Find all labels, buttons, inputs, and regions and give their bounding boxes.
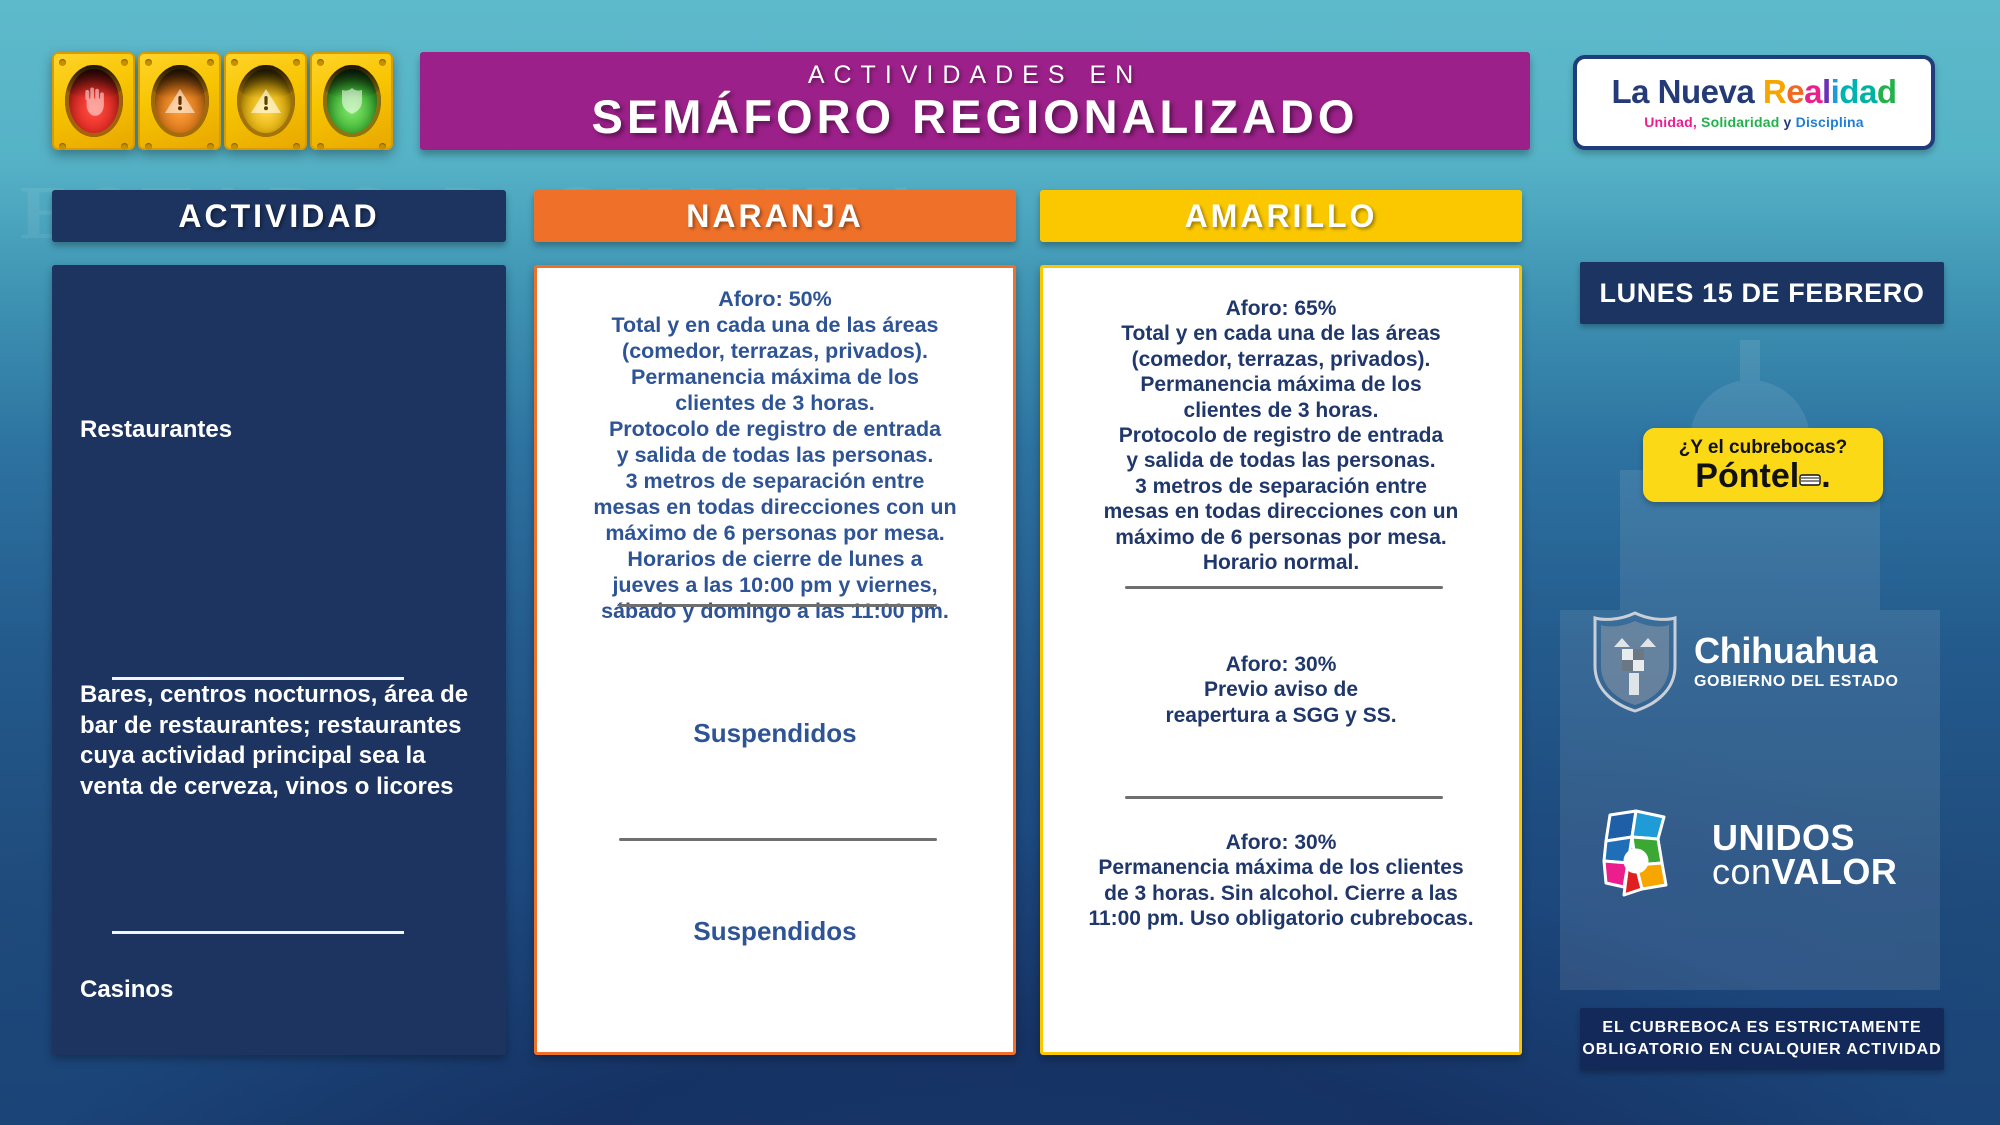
text-line: Permanencia máxima de los clientes <box>1059 855 1503 880</box>
naranja-bares-label: Suspendidos <box>553 718 997 749</box>
activity-row-casinos: Casinos <box>80 975 478 1006</box>
brand-letter: a <box>1804 73 1822 110</box>
gov-logo-subtitle: GOBIERNO DEL ESTADO <box>1694 673 1899 691</box>
uv-line-unidos: UNIDOS <box>1712 821 1897 855</box>
brand-letter: i <box>1831 73 1840 110</box>
date-badge: LUNES 15 DE FEBRERO <box>1580 262 1944 324</box>
brand-letter: l <box>1822 73 1831 110</box>
gov-logo-name: Chihuahua <box>1694 633 1899 669</box>
text-line: 3 metros de separación entre <box>1059 474 1503 499</box>
text-line: Previo aviso de <box>1059 677 1503 702</box>
hand-icon <box>65 65 123 137</box>
text-line: Aforo: 50% <box>553 286 997 312</box>
text-line: Horario normal. <box>1059 550 1503 575</box>
text-line: clientes de 3 horas. <box>1059 398 1503 423</box>
page-title: SEMÁFORO REGIONALIZADO <box>592 93 1359 140</box>
slogan-char: ó <box>1718 457 1739 495</box>
text-line: máximo de 6 personas por mesa. <box>553 520 997 546</box>
slogan-char: . <box>1821 457 1830 495</box>
brand-la-nueva: La Nueva <box>1611 73 1762 110</box>
title-banner: ACTIVIDADES EN SEMÁFORO REGIONALIZADO <box>420 52 1530 150</box>
slogan-char: l <box>1790 457 1799 495</box>
text-line: y salida de todas las personas. <box>553 442 997 468</box>
naranja-cell-restaurantes: Aforo: 50%Total y en cada una de las áre… <box>553 286 997 624</box>
face-mask-icon <box>1799 461 1821 479</box>
chihuahua-map-icon <box>1592 803 1696 907</box>
text-line: Total y en cada una de las áreas <box>553 312 997 338</box>
column-header-actividad: ACTIVIDAD <box>52 190 506 242</box>
amarillo-column-card: Aforo: 65%Total y en cada una de las áre… <box>1040 265 1522 1055</box>
text-line: clientes de 3 horas. <box>553 390 997 416</box>
text-line: Horarios de cierre de lunes a <box>553 546 997 572</box>
text-line: y salida de todas las personas. <box>1059 448 1503 473</box>
column-header-actividad-label: ACTIVIDAD <box>178 198 379 235</box>
naranja-column-card: Aforo: 50%Total y en cada una de las áre… <box>534 265 1016 1055</box>
text-line: Protocolo de registro de entrada <box>553 416 997 442</box>
brand-letter: e <box>1786 73 1804 110</box>
mask-campaign-badge: ¿Y el cubrebocas? Póntel. <box>1643 428 1883 502</box>
brand-sub-unidad: Unidad, <box>1644 114 1697 130</box>
mask-slogan-text: Póntel. <box>1695 459 1830 493</box>
text-line: jueves a las 10:00 pm y viernes, <box>553 572 997 598</box>
brand-subtitle: Unidad, Solidaridad y Disciplina <box>1644 114 1864 130</box>
brand-realidad: Realidad <box>1763 73 1897 110</box>
text-line: (comedor, terrazas, privados). <box>553 338 997 364</box>
brand-letter: d <box>1839 73 1859 110</box>
column-header-naranja: NARANJA <box>534 190 1016 242</box>
mask-mandatory-footer-banner: EL CUBREBOCA ES ESTRICTAMENTE OBLIGATORI… <box>1580 1008 1944 1070</box>
footer-line-2: OBLIGATORIO EN CUALQUIER ACTIVIDAD <box>1582 1039 1941 1061</box>
text-line: (comedor, terrazas, privados). <box>1059 347 1503 372</box>
brand-sub-solidaridad: Solidaridad <box>1697 114 1780 130</box>
text-line: Permanencia máxima de los <box>1059 372 1503 397</box>
mask-campaign-question: ¿Y el cubrebocas? <box>1679 438 1848 457</box>
column-header-amarillo-label: AMARILLO <box>1185 198 1378 235</box>
brand-logo-la-nueva-realidad: La Nueva Realidad Unidad, Solidaridad y … <box>1573 55 1935 150</box>
slogan-char: t <box>1760 457 1771 495</box>
brand-letter: a <box>1859 73 1877 110</box>
traffic-light-red <box>52 52 135 150</box>
traffic-light-strip <box>52 52 393 150</box>
chihuahua-government-logo: Chihuahua GOBIERNO DEL ESTADO <box>1592 608 1944 716</box>
slogan-char: e <box>1771 457 1790 495</box>
column-header-naranja-label: NARANJA <box>686 198 863 235</box>
mask-campaign-slogan: Póntel. <box>1695 459 1830 493</box>
amarillo-divider-2 <box>1125 796 1443 799</box>
warning-icon <box>151 65 209 137</box>
traffic-light-green <box>310 52 393 150</box>
text-line: sábado y domingo a las 11:00 pm. <box>553 598 997 624</box>
brand-letter: d <box>1877 73 1897 110</box>
date-badge-label: LUNES 15 DE FEBRERO <box>1600 278 1925 309</box>
column-header-amarillo: AMARILLO <box>1040 190 1522 242</box>
naranja-divider-2 <box>619 838 937 841</box>
naranja-cell-casinos: Suspendidos <box>553 916 997 947</box>
activity-row-restaurantes: Restaurantes <box>80 415 478 446</box>
traffic-light-orange <box>138 52 221 150</box>
naranja-divider-1 <box>619 604 937 607</box>
brand-letter: R <box>1763 73 1786 110</box>
text-line: Total y en cada una de las áreas <box>1059 321 1503 346</box>
uv-valor: VALOR <box>1772 851 1898 892</box>
uv-line-con-valor: conVALOR <box>1712 855 1897 889</box>
shield-icon <box>323 65 381 137</box>
text-line: Permanencia máxima de los <box>553 364 997 390</box>
amarillo-cell-bares: Aforo: 30%Previo aviso dereapertura a SG… <box>1059 652 1503 728</box>
brand-title: La Nueva Realidad <box>1611 75 1896 108</box>
page-header: ACTIVIDADES EN SEMÁFORO REGIONALIZADO La… <box>0 0 2000 180</box>
traffic-light-yellow <box>224 52 307 150</box>
naranja-casinos-label: Suspendidos <box>553 916 997 947</box>
amarillo-cell-restaurantes: Aforo: 65%Total y en cada una de las áre… <box>1059 296 1503 575</box>
amarillo-cell-casinos: Aforo: 30%Permanencia máxima de los clie… <box>1059 830 1503 932</box>
text-line: mesas en todas direcciones con un <box>553 494 997 520</box>
footer-line-1: EL CUBREBOCA ES ESTRICTAMENTE <box>1602 1017 1921 1039</box>
text-line: 3 metros de separación entre <box>553 468 997 494</box>
text-line: Aforo: 30% <box>1059 830 1503 855</box>
text-line: de 3 horas. Sin alcohol. Cierre a las <box>1059 881 1503 906</box>
text-line: 11:00 pm. Uso obligatorio cubrebocas. <box>1059 906 1503 931</box>
text-line: máximo de 6 personas por mesa. <box>1059 525 1503 550</box>
activity-column-panel: Restaurantes Bares, centros nocturnos, á… <box>52 265 506 1055</box>
brand-sub-y: y <box>1779 114 1795 130</box>
text-line: Aforo: 65% <box>1059 296 1503 321</box>
naranja-cell-bares: Suspendidos <box>553 718 997 749</box>
warning-icon <box>237 65 295 137</box>
chihuahua-shield-icon <box>1592 611 1678 713</box>
text-line: reapertura a SGG y SS. <box>1059 703 1503 728</box>
slogan-char: P <box>1695 457 1718 495</box>
unidos-con-valor-logo: UNIDOS conVALOR <box>1592 800 1952 910</box>
slogan-char: n <box>1739 457 1760 495</box>
uv-con: con <box>1712 851 1772 892</box>
text-line: mesas en todas direcciones con un <box>1059 499 1503 524</box>
title-kicker: ACTIVIDADES EN <box>808 63 1142 88</box>
brand-sub-disciplina: Disciplina <box>1796 114 1864 130</box>
activity-row-bares: Bares, centros nocturnos, área de bar de… <box>80 680 478 803</box>
text-line: Aforo: 30% <box>1059 652 1503 677</box>
activity-divider-2 <box>112 931 404 934</box>
text-line: Protocolo de registro de entrada <box>1059 423 1503 448</box>
amarillo-divider-1 <box>1125 586 1443 589</box>
